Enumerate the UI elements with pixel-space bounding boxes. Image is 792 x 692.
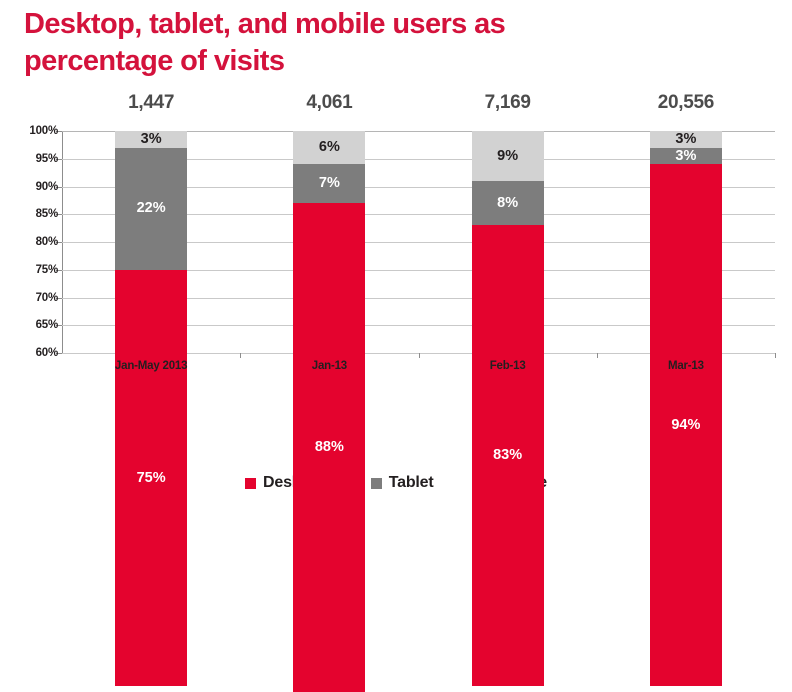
bar-segment-label: 88% bbox=[315, 440, 344, 455]
y-axis-tick-label: 80% bbox=[2, 236, 58, 248]
bar-segment-tablet[interactable]: 22% bbox=[115, 148, 187, 270]
y-axis-tick-label: 65% bbox=[2, 319, 58, 331]
stacked-bar[interactable]: 3%3%94% bbox=[650, 131, 722, 353]
y-axis-tick-label: 95% bbox=[2, 153, 58, 165]
bar-segment-label: 75% bbox=[137, 471, 166, 486]
x-axis-tick-mark bbox=[240, 353, 241, 358]
column-total-label: 7,169 bbox=[485, 92, 531, 114]
stacked-bar[interactable]: 9%8%83% bbox=[472, 131, 544, 353]
bar-segment-mobile[interactable]: 6% bbox=[293, 131, 365, 164]
bar-segment-desktop[interactable]: 94% bbox=[650, 164, 722, 686]
bar-segment-label: 8% bbox=[497, 196, 518, 211]
stacked-bar-chart: DesktopTabletMobile 100%95%90%85%80%75%7… bbox=[0, 90, 792, 380]
x-axis-category-label: Jan-May 2013 bbox=[115, 360, 187, 372]
page-title: Desktop, tablet, and mobile users as per… bbox=[24, 6, 764, 80]
bar-segment-label: 7% bbox=[319, 176, 340, 191]
x-axis-category-label: Feb-13 bbox=[490, 360, 526, 372]
column-total-label: 1,447 bbox=[128, 92, 174, 114]
bar-segment-desktop[interactable]: 75% bbox=[115, 270, 187, 686]
bar-segment-label: 9% bbox=[497, 149, 518, 164]
column-total-label: 20,556 bbox=[658, 92, 714, 114]
bar-segment-tablet[interactable]: 8% bbox=[472, 181, 544, 225]
x-axis-tick-mark bbox=[597, 353, 598, 358]
chart-category-column[interactable]: 9%8%83% bbox=[419, 131, 597, 353]
bar-segment-label: 22% bbox=[137, 201, 166, 216]
bar-segment-label: 6% bbox=[319, 140, 340, 155]
x-axis-tick-mark bbox=[419, 353, 420, 358]
stacked-bar[interactable]: 6%7%88% bbox=[293, 131, 365, 353]
bar-segment-desktop[interactable]: 88% bbox=[293, 203, 365, 691]
bar-segment-mobile[interactable]: 9% bbox=[472, 131, 544, 181]
bar-segment-label: 3% bbox=[141, 132, 162, 147]
legend-label: Tablet bbox=[389, 474, 434, 492]
x-axis-category-label: Mar-13 bbox=[668, 360, 704, 372]
bar-segment-label: 94% bbox=[671, 418, 700, 433]
bar-segment-desktop[interactable]: 83% bbox=[472, 225, 544, 686]
legend-swatch-icon bbox=[245, 478, 256, 489]
bar-segment-mobile[interactable]: 3% bbox=[115, 131, 187, 148]
y-axis-tick-label: 100% bbox=[2, 125, 58, 137]
bar-segment-mobile[interactable]: 3% bbox=[650, 131, 722, 148]
page-title-line-2: percentage of visits bbox=[24, 43, 764, 80]
page-title-line-1: Desktop, tablet, and mobile users as bbox=[24, 6, 764, 43]
y-axis-tick-label: 90% bbox=[2, 181, 58, 193]
x-axis-tick-mark bbox=[775, 353, 776, 358]
y-axis-tick-label: 75% bbox=[2, 264, 58, 276]
y-axis-tick-label: 60% bbox=[2, 347, 58, 359]
y-axis-tick-label: 70% bbox=[2, 292, 58, 304]
chart-category-column[interactable]: 6%7%88% bbox=[240, 131, 418, 353]
chart-category-column[interactable]: 3%3%94% bbox=[597, 131, 775, 353]
chart-category-column[interactable]: 3%22%75% bbox=[62, 131, 240, 353]
legend-item-tablet[interactable]: Tablet bbox=[371, 474, 434, 492]
bar-segment-label: 83% bbox=[493, 448, 522, 463]
bar-segment-tablet[interactable]: 3% bbox=[650, 148, 722, 165]
x-axis-category-label: Jan-13 bbox=[312, 360, 347, 372]
y-axis-tick-label: 85% bbox=[2, 208, 58, 220]
bar-segment-tablet[interactable]: 7% bbox=[293, 164, 365, 203]
bar-segment-label: 3% bbox=[675, 149, 696, 164]
legend-swatch-icon bbox=[371, 478, 382, 489]
column-total-label: 4,061 bbox=[306, 92, 352, 114]
stacked-bar[interactable]: 3%22%75% bbox=[115, 131, 187, 353]
bar-segment-label: 3% bbox=[675, 132, 696, 147]
